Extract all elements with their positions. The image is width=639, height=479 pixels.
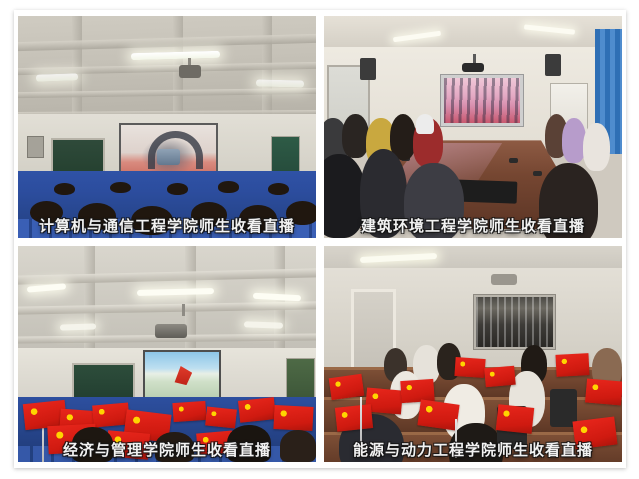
chinese-flag [205, 406, 237, 428]
audience-head [239, 205, 278, 233]
flag-pole [455, 419, 457, 458]
table-microphone [533, 171, 542, 176]
photo-panel-bottom-right[interactable]: 能源与动力工程学院师生收看直播 [324, 246, 622, 462]
chinese-flag [556, 353, 590, 376]
chinese-flag [401, 379, 435, 403]
photo-panel-top-left[interactable]: 计算机与通信工程学院师生收看直播 [18, 16, 316, 238]
chinese-flag [585, 378, 622, 405]
parade-flag-formation [173, 366, 192, 385]
chinese-flag [418, 399, 460, 430]
projector [179, 65, 201, 78]
collage-grid: 计算机与通信工程学院师生收看直播 [18, 16, 622, 462]
wall-speaker [545, 54, 561, 76]
fluorescent-light [60, 323, 96, 330]
audience-head [218, 181, 239, 192]
chinese-flag [484, 366, 515, 388]
chinese-flag [92, 402, 129, 427]
audience-head [268, 183, 289, 195]
broadcast-image [145, 352, 218, 400]
flag-classroom-scene [18, 246, 316, 462]
collage-card: 计算机与通信工程学院师生收看直播 [14, 10, 626, 468]
audience-head [54, 183, 75, 195]
audience-head [167, 183, 188, 195]
attendee [404, 163, 464, 238]
audience-head [227, 425, 272, 462]
chinese-flag [454, 357, 485, 378]
photo-panel-top-right[interactable]: 建筑环境工程学院师生收看直播 [324, 16, 622, 238]
audience-head [30, 201, 63, 224]
photo-collage: 计算机与通信工程学院师生收看直播 [0, 0, 639, 479]
chinese-flag [172, 400, 206, 422]
attendee [360, 149, 408, 238]
audience-head [280, 430, 316, 462]
table-microphone [509, 158, 518, 163]
parade-vehicle [157, 149, 180, 165]
audience-seating [18, 171, 316, 238]
audience-head [155, 432, 194, 462]
audience-head [110, 182, 131, 193]
chinese-flag [329, 373, 364, 399]
fluorescent-light [244, 321, 283, 328]
flag-pole [360, 397, 362, 445]
attendee [416, 114, 434, 134]
broadcast-image [444, 78, 519, 123]
attendee [583, 123, 610, 172]
chinese-flag [335, 404, 373, 431]
wall-panel-box [27, 136, 44, 158]
audience-head [286, 201, 316, 225]
chinese-flag [237, 398, 275, 423]
projector [491, 274, 517, 285]
projector [155, 324, 187, 338]
photo-panel-bottom-left[interactable]: 经济与管理学院师生收看直播 [18, 246, 316, 462]
broadcast-image [476, 297, 553, 347]
projection-screen [143, 350, 220, 402]
conference-room-scene [324, 16, 622, 238]
audience-head [191, 202, 227, 227]
wall-display [440, 74, 523, 127]
seminar-room-scene [324, 246, 622, 462]
projection-screen [473, 294, 556, 350]
wall-speaker [360, 58, 376, 80]
chinese-flag [573, 416, 618, 449]
audience-head [72, 427, 114, 462]
audience-head [131, 206, 173, 235]
display-lamp [462, 63, 484, 72]
audience-head [78, 203, 117, 230]
chinese-flag [274, 405, 314, 431]
projector-mount [182, 304, 185, 316]
attendee [539, 163, 599, 238]
fluorescent-light [36, 73, 78, 81]
lecture-hall-scene [18, 16, 316, 238]
attendee [342, 114, 369, 158]
chinese-flag [496, 404, 534, 434]
broadcast-image [121, 125, 215, 179]
